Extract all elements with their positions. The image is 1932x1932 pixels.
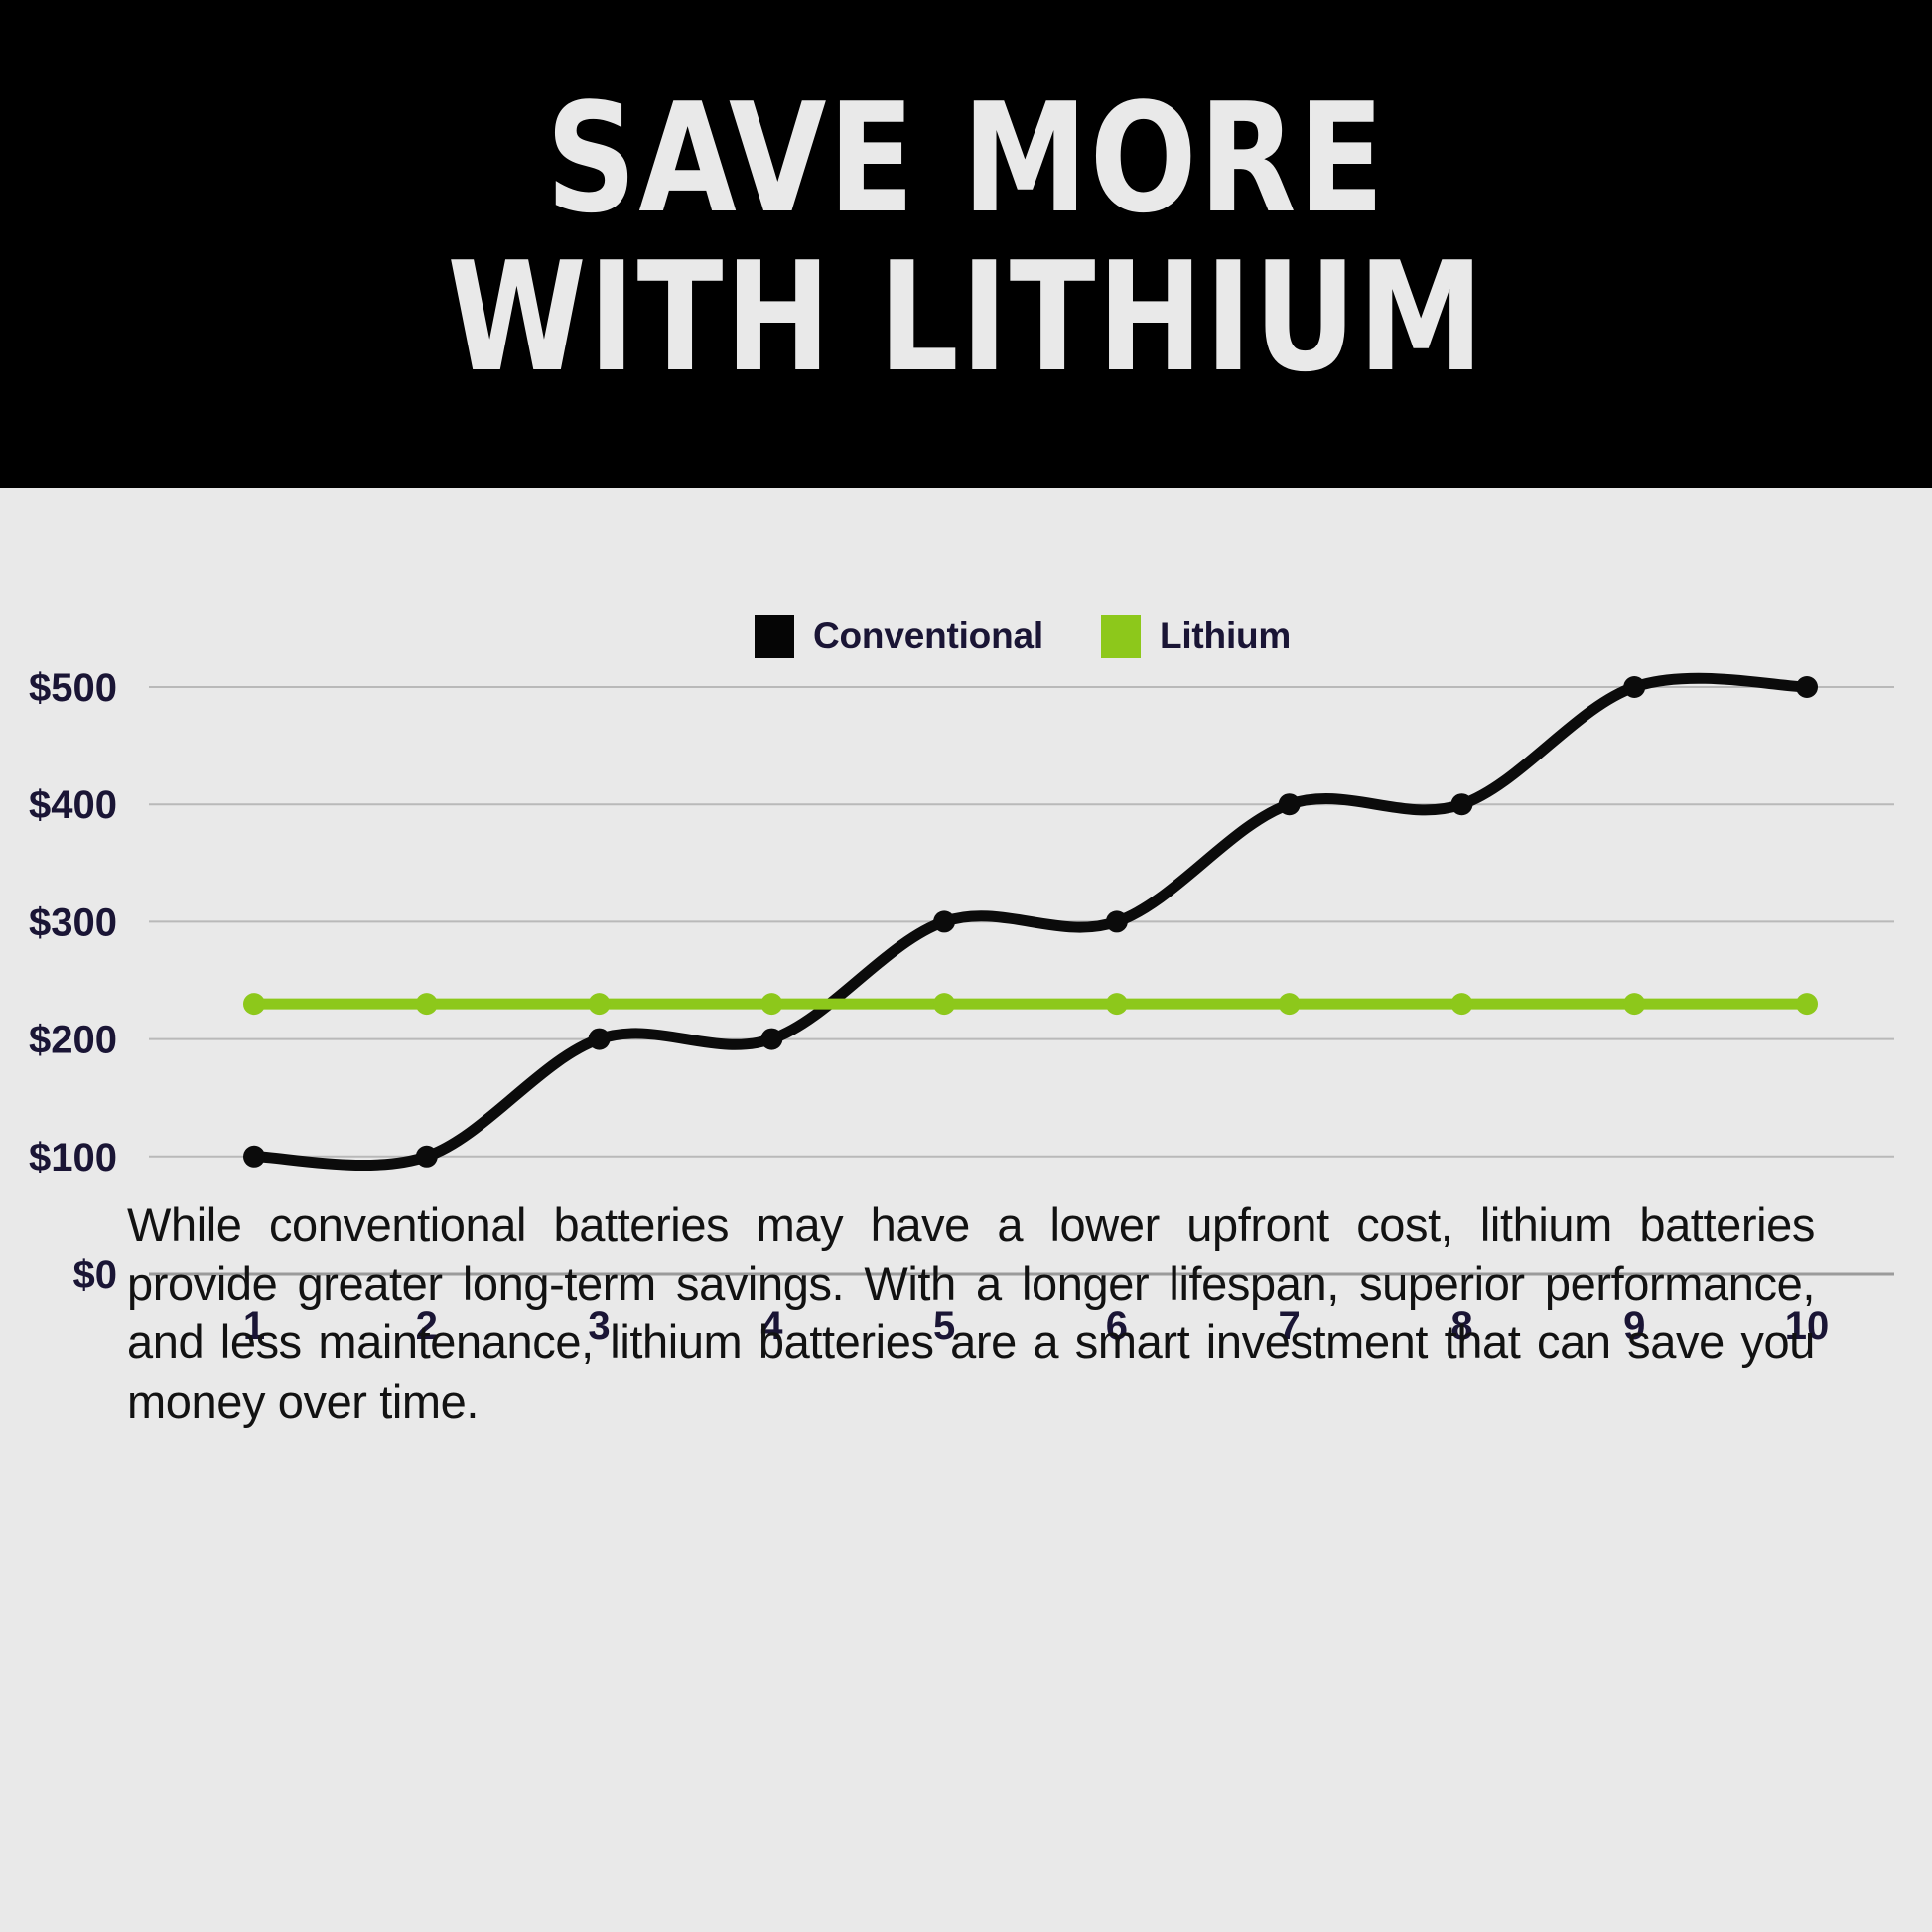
chart-data-point	[760, 1029, 782, 1050]
chart-y-tick-label: $400	[29, 783, 117, 827]
chart-y-tick-label: $500	[29, 666, 117, 710]
page-title-line-1: SAVE MORE	[546, 79, 1386, 238]
chart-data-point	[589, 993, 611, 1015]
chart-data-point	[243, 993, 265, 1015]
chart-y-tick-label: $100	[29, 1136, 117, 1179]
chart-gridlines	[149, 687, 1894, 1274]
chart-data-point	[1623, 676, 1645, 698]
chart-y-tick-label: $0	[73, 1253, 118, 1297]
chart-data-point	[416, 1146, 438, 1168]
chart-y-tick-label: $200	[29, 1019, 117, 1062]
content-area: Conventional Lithium $0$100$200$300$400$…	[0, 488, 1932, 1932]
chart-data-point	[1450, 993, 1472, 1015]
chart-data-point	[1450, 793, 1472, 815]
chart-data-point	[760, 993, 782, 1015]
chart-data-point	[933, 910, 955, 932]
chart-data-point	[1106, 910, 1128, 932]
chart-data-point	[1623, 993, 1645, 1015]
chart-y-axis-labels: $0$100$200$300$400$500	[29, 666, 117, 1297]
chart-data-point	[1106, 993, 1128, 1015]
page-title-line-2: WITH LITHIUM	[447, 238, 1485, 397]
header-banner: SAVE MORE WITH LITHIUM	[0, 0, 1932, 488]
body-paragraph: While conventional batteries may have a …	[127, 1195, 1815, 1431]
chart-data-point	[1279, 793, 1301, 815]
chart-data-point	[1279, 993, 1301, 1015]
chart-data-point	[933, 993, 955, 1015]
chart-data-point	[589, 1029, 611, 1050]
chart-data-point	[416, 993, 438, 1015]
chart-data-point	[243, 1146, 265, 1168]
chart-data-point	[1796, 993, 1818, 1015]
chart-data-point	[1796, 676, 1818, 698]
chart-y-tick-label: $300	[29, 900, 117, 944]
